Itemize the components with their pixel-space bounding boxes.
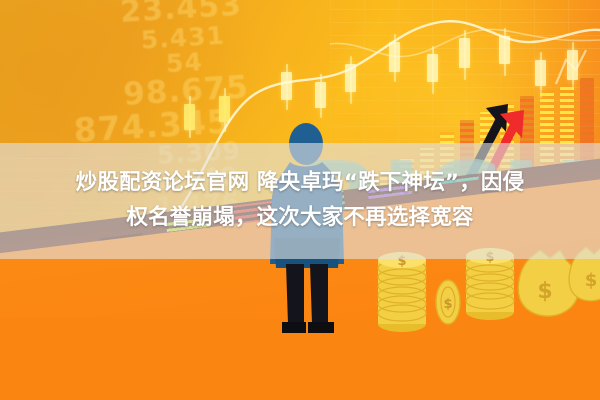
headline-line-1: 炒股配资论坛官网 降央卓玛“跌下神坛”，因侵 <box>8 168 592 199</box>
banner-image: 23.453 5.431 54 98.675 874.345 5.309 2.3… <box>0 0 600 400</box>
coin-single: $ <box>436 280 460 324</box>
svg-text:$: $ <box>585 270 598 291</box>
coin-stack-tall: $ <box>378 252 426 332</box>
headline-line-2: 权名誉崩塌，这次大家不再选择宽容 <box>8 203 592 234</box>
headline-band: 炒股配资论坛官网 降央卓玛“跌下神坛”，因侵 权名誉崩塌，这次大家不再选择宽容 <box>0 143 600 259</box>
svg-text:$: $ <box>443 297 452 312</box>
svg-text:$: $ <box>537 279 552 304</box>
